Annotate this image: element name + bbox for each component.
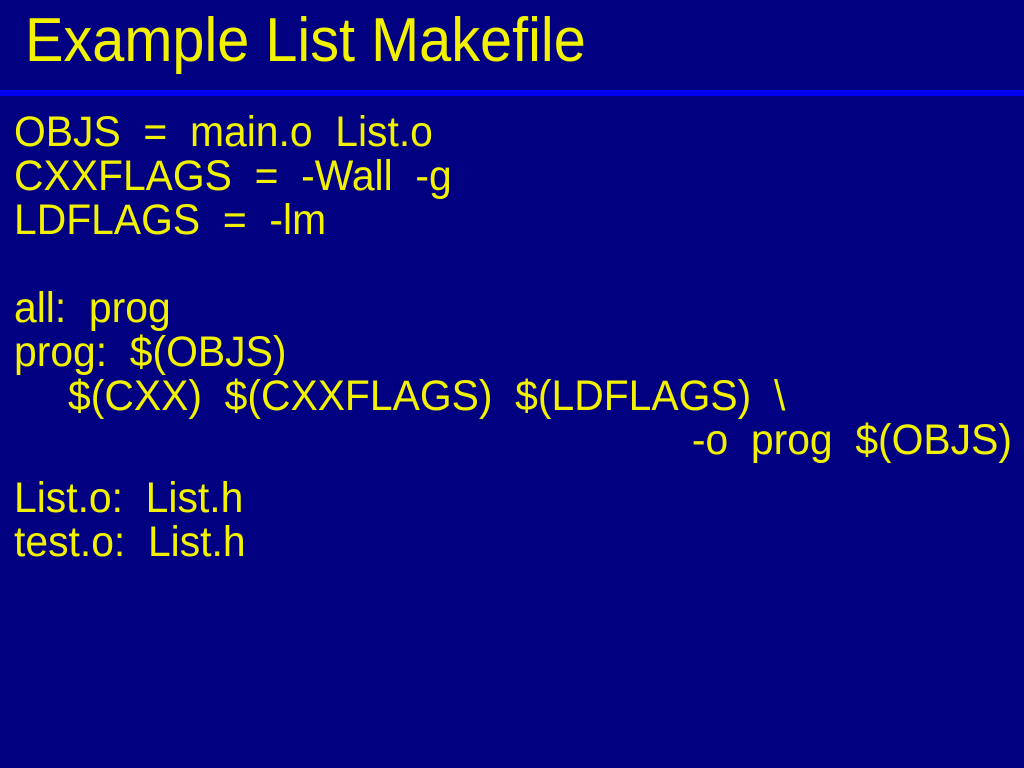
code-line: $(CXX) $(CXXFLAGS) $(LDFLAGS) \ — [68, 374, 785, 418]
code-line: List.o: List.h — [14, 476, 243, 520]
code-line: prog: $(OBJS) — [14, 330, 286, 374]
slide: Example List Makefile OBJS = main.o List… — [0, 0, 1024, 768]
code-line: all: prog — [14, 286, 171, 330]
page-title: Example List Makefile — [25, 3, 586, 79]
title-area: Example List Makefile — [0, 0, 1024, 90]
makefile-code-block: OBJS = main.o List.oCXXFLAGS = -Wall -gL… — [0, 100, 1024, 760]
code-line: test.o: List.h — [14, 520, 246, 564]
code-line: LDFLAGS = -lm — [14, 198, 326, 242]
code-line: -o prog $(OBJS) — [692, 418, 1012, 462]
code-line: CXXFLAGS = -Wall -g — [14, 154, 452, 198]
title-divider-rule — [0, 90, 1024, 96]
code-line: OBJS = main.o List.o — [14, 110, 433, 154]
code-line-blank — [14, 242, 25, 286]
